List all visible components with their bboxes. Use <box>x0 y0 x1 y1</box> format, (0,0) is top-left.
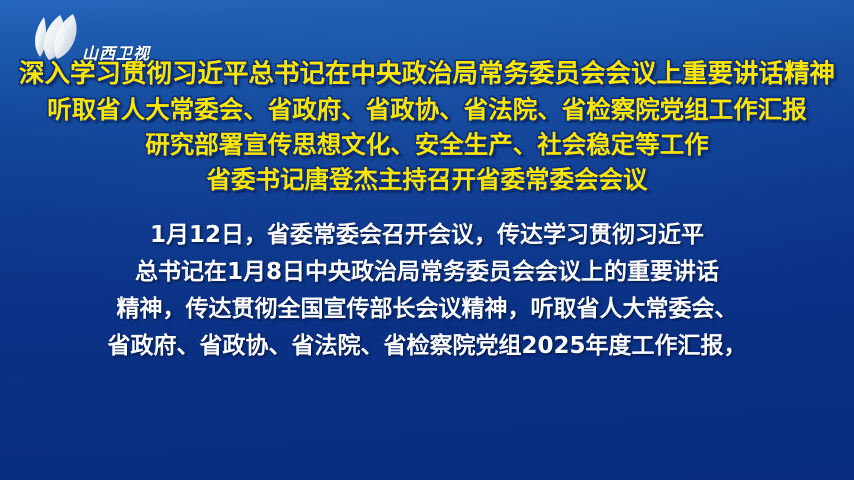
channel-wordmark: 山西卫视 <box>82 40 150 64</box>
body-line-1: 1月12日，省委常委会召开会议，传达学习贯彻习近平 <box>0 217 854 254</box>
headline-line-4: 省委书记唐登杰主持召开省委常委会会议 <box>0 162 854 197</box>
body-paragraph: 1月12日，省委常委会召开会议，传达学习贯彻习近平 总书记在1月8日中央政治局常… <box>0 217 854 365</box>
headline-line-3: 研究部署宣传思想文化、安全生产、社会稳定等工作 <box>0 127 854 162</box>
channel-logo: 山西卫视 <box>26 12 206 70</box>
body-line-2: 总书记在1月8日中央政治局常务委员会会议上的重要讲话 <box>0 254 854 291</box>
headline: 深入学习贯彻习近平总书记在中央政治局常务委员会会议上重要讲话精神 听取省人大常委… <box>0 57 854 197</box>
headline-line-2: 听取省人大常委会、省政府、省政协、省法院、省检察院党组工作汇报 <box>0 92 854 127</box>
news-slate-screen: 山西卫视 深入学习贯彻习近平总书记在中央政治局常务委员会会议上重要讲话精神 听取… <box>0 0 854 480</box>
body-line-3: 精神，传达贯彻全国宣传部长会议精神，听取省人大常委会、 <box>0 291 854 328</box>
body-line-4: 省政府、省政协、省法院、省检察院党组2025年度工作汇报， <box>0 328 854 365</box>
